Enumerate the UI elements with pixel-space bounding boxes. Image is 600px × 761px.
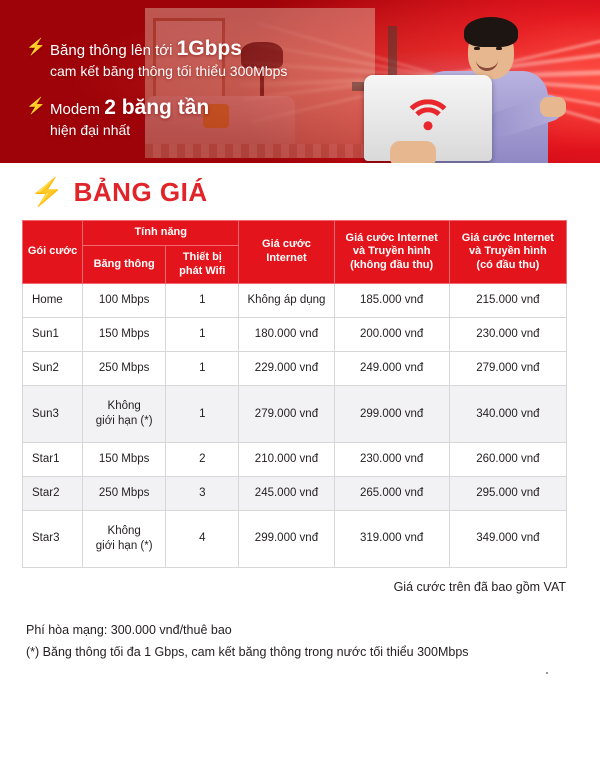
cell-internet-price: 210.000 vnđ bbox=[239, 442, 334, 476]
header-internet-price: Giá cước Internet bbox=[239, 221, 334, 284]
banner-feature-list: ⚡ Băng thông lên tới 1Gbps cam kết băng … bbox=[26, 36, 287, 154]
banner-feature-prefix: Băng thông lên tới bbox=[50, 42, 177, 59]
table-row: Star2 250 Mbps 3 245.000 vnđ 265.000 vnđ… bbox=[23, 476, 567, 510]
cell-internet-price: 245.000 vnđ bbox=[239, 476, 334, 510]
banner-feature-highlight: 2 băng tần bbox=[104, 96, 209, 119]
cell-package: Sun2 bbox=[23, 352, 83, 386]
cell-tv-no-receiver: 200.000 vnđ bbox=[334, 318, 449, 352]
cell-bandwidth: 150 Mbps bbox=[83, 442, 166, 476]
banner-feature-item: ⚡ Modem 2 băng tần hiện đại nhất bbox=[26, 95, 287, 140]
cell-internet-price: 279.000 vnđ bbox=[239, 386, 334, 443]
header-bandwidth: Băng thông bbox=[83, 245, 166, 284]
lightning-bolt-icon: ⚡ bbox=[26, 40, 40, 56]
table-row: Sun1 150 Mbps 1 180.000 vnđ 200.000 vnđ … bbox=[23, 318, 567, 352]
lightning-bolt-icon: ⚡ bbox=[26, 99, 40, 115]
lightning-bolt-icon: ⚡ bbox=[30, 179, 64, 206]
cell-tv-no-receiver: 230.000 vnđ bbox=[334, 442, 449, 476]
wifi-icon bbox=[405, 99, 451, 135]
banner-feature-highlight: 1Gbps bbox=[177, 37, 242, 60]
cell-wifi-device: 4 bbox=[166, 510, 239, 567]
banner-feature-item: ⚡ Băng thông lên tới 1Gbps cam kết băng … bbox=[26, 36, 287, 81]
pricing-table: Gói cước Tính năng Giá cước Internet Giá… bbox=[22, 220, 567, 568]
table-row: Home 100 Mbps 1 Không áp dụng 185.000 vn… bbox=[23, 284, 567, 318]
cell-tv-no-receiver: 299.000 vnđ bbox=[334, 386, 449, 443]
cell-tv-no-receiver: 249.000 vnđ bbox=[334, 352, 449, 386]
header-package: Gói cước bbox=[23, 221, 83, 284]
cell-tv-no-receiver: 265.000 vnđ bbox=[334, 476, 449, 510]
banner-feature-subline: cam kết băng thông tối thiểu 300Mbps bbox=[50, 63, 287, 81]
cell-internet-price: 299.000 vnđ bbox=[239, 510, 334, 567]
cell-tv-with-receiver: 279.000 vnđ bbox=[449, 352, 566, 386]
vat-note: Giá cước trên đã bao gồm VAT bbox=[0, 580, 566, 594]
cell-tv-no-receiver: 319.000 vnđ bbox=[334, 510, 449, 567]
cell-bandwidth: 250 Mbps bbox=[83, 476, 166, 510]
table-row: Sun3 Không giới hạn (*) 1 279.000 vnđ 29… bbox=[23, 386, 567, 443]
cell-package: Sun3 bbox=[23, 386, 83, 443]
person-with-laptop-photo bbox=[356, 3, 566, 163]
cell-bandwidth: 250 Mbps bbox=[83, 352, 166, 386]
table-header-row-1: Gói cước Tính năng Giá cước Internet Giá… bbox=[23, 221, 567, 246]
cell-wifi-device: 1 bbox=[166, 284, 239, 318]
cell-internet-price: 229.000 vnđ bbox=[239, 352, 334, 386]
cell-wifi-device: 1 bbox=[166, 318, 239, 352]
cell-package: Star3 bbox=[23, 510, 83, 567]
cell-bandwidth: Không giới hạn (*) bbox=[83, 386, 166, 443]
cell-package: Star2 bbox=[23, 476, 83, 510]
cell-wifi-device: 3 bbox=[166, 476, 239, 510]
table-row: Star3 Không giới hạn (*) 4 299.000 vnđ 3… bbox=[23, 510, 567, 567]
cell-package: Sun1 bbox=[23, 318, 83, 352]
cell-tv-no-receiver: 185.000 vnđ bbox=[334, 284, 449, 318]
cell-wifi-device: 1 bbox=[166, 352, 239, 386]
pricing-table-body: Home 100 Mbps 1 Không áp dụng 185.000 vn… bbox=[23, 284, 567, 567]
banner-feature-prefix: Modem bbox=[50, 101, 104, 118]
banner-feature-headline: Modem 2 băng tần bbox=[50, 95, 209, 122]
cell-wifi-device: 1 bbox=[166, 386, 239, 443]
page-title-text: BẢNG GIÁ bbox=[74, 177, 208, 208]
note-install-fee: Phí hòa mạng: 300.000 vnđ/thuê bao bbox=[26, 620, 600, 642]
note-asterisk: (*) Băng thông tối đa 1 Gbps, cam kết bă… bbox=[26, 642, 600, 664]
table-row: Star1 150 Mbps 2 210.000 vnđ 230.000 vnđ… bbox=[23, 442, 567, 476]
cell-tv-with-receiver: 260.000 vnđ bbox=[449, 442, 566, 476]
cell-package: Star1 bbox=[23, 442, 83, 476]
cell-tv-with-receiver: 230.000 vnđ bbox=[449, 318, 566, 352]
header-features-group: Tính năng bbox=[83, 221, 239, 246]
header-internet-tv-no-receiver: Giá cước Internet và Truyền hình (không … bbox=[334, 221, 449, 284]
cell-tv-with-receiver: 349.000 vnđ bbox=[449, 510, 566, 567]
cell-bandwidth: Không giới hạn (*) bbox=[83, 510, 166, 567]
banner-feature-subline: hiện đại nhất bbox=[50, 122, 209, 140]
promo-banner: ⚡ Băng thông lên tới 1Gbps cam kết băng … bbox=[0, 0, 600, 163]
page-title: ⚡ BẢNG GIÁ bbox=[30, 177, 600, 208]
cell-package: Home bbox=[23, 284, 83, 318]
footer-notes: Phí hòa mạng: 300.000 vnđ/thuê bao (*) B… bbox=[26, 620, 600, 664]
cell-bandwidth: 100 Mbps bbox=[83, 284, 166, 318]
cell-tv-with-receiver: 340.000 vnđ bbox=[449, 386, 566, 443]
cell-wifi-device: 2 bbox=[166, 442, 239, 476]
table-row: Sun2 250 Mbps 1 229.000 vnđ 249.000 vnđ … bbox=[23, 352, 567, 386]
cell-internet-price: Không áp dụng bbox=[239, 284, 334, 318]
artifact-speck bbox=[546, 672, 548, 674]
banner-feature-headline: Băng thông lên tới 1Gbps bbox=[50, 36, 287, 63]
cell-bandwidth: 150 Mbps bbox=[83, 318, 166, 352]
cell-tv-with-receiver: 295.000 vnđ bbox=[449, 476, 566, 510]
cell-tv-with-receiver: 215.000 vnđ bbox=[449, 284, 566, 318]
pricing-table-container: Gói cước Tính năng Giá cước Internet Giá… bbox=[22, 220, 567, 568]
header-wifi-device: Thiết bị phát Wifi bbox=[166, 245, 239, 284]
header-internet-tv-with-receiver: Giá cước Internet và Truyền hình (có đầu… bbox=[449, 221, 566, 284]
cell-internet-price: 180.000 vnđ bbox=[239, 318, 334, 352]
